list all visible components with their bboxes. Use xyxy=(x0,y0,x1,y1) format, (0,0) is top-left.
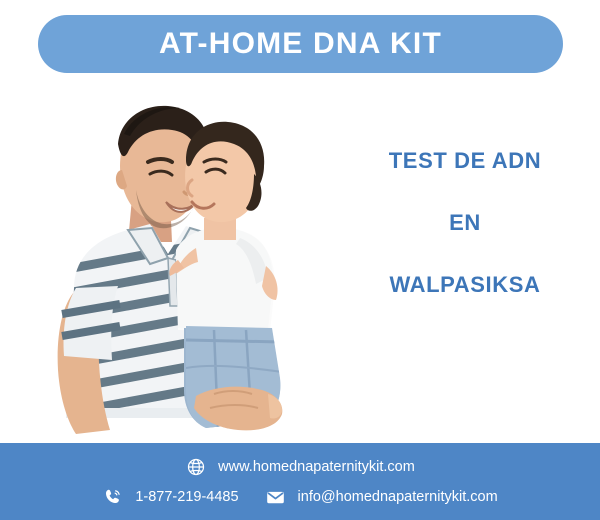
email-text: info@homednapaternitykit.com xyxy=(298,490,498,505)
phone-icon xyxy=(102,486,124,508)
header-banner: AT-HOME DNA KIT xyxy=(38,15,563,73)
family-photo xyxy=(0,78,330,456)
website-text: www.homednapaternitykit.com xyxy=(218,460,415,475)
footer-row-phone-email: 1-877-219-4485 info@homednapaternitykit.… xyxy=(0,486,600,508)
phone-text: 1-877-219-4485 xyxy=(135,490,238,505)
website-contact[interactable]: www.homednapaternitykit.com xyxy=(185,456,415,478)
footer-row-website: www.homednapaternitykit.com xyxy=(0,456,600,478)
phone-contact[interactable]: 1-877-219-4485 xyxy=(102,486,238,508)
envelope-icon xyxy=(265,486,287,508)
footer-contact-bar: www.homednapaternitykit.com 1-877-219-44… xyxy=(0,443,600,520)
headline-line-1: TEST DE ADN xyxy=(330,150,600,172)
email-contact[interactable]: info@homednapaternitykit.com xyxy=(265,486,498,508)
dna-kit-promo-card: AT-HOME DNA KIT xyxy=(0,0,600,520)
globe-icon xyxy=(185,456,207,478)
headline-block: TEST DE ADN EN WALPASIKSA xyxy=(330,150,600,296)
page-title: AT-HOME DNA KIT xyxy=(159,29,442,59)
family-photo-illustration xyxy=(0,78,330,456)
headline-line-2: EN xyxy=(330,212,600,234)
headline-line-3: WALPASIKSA xyxy=(330,274,600,296)
